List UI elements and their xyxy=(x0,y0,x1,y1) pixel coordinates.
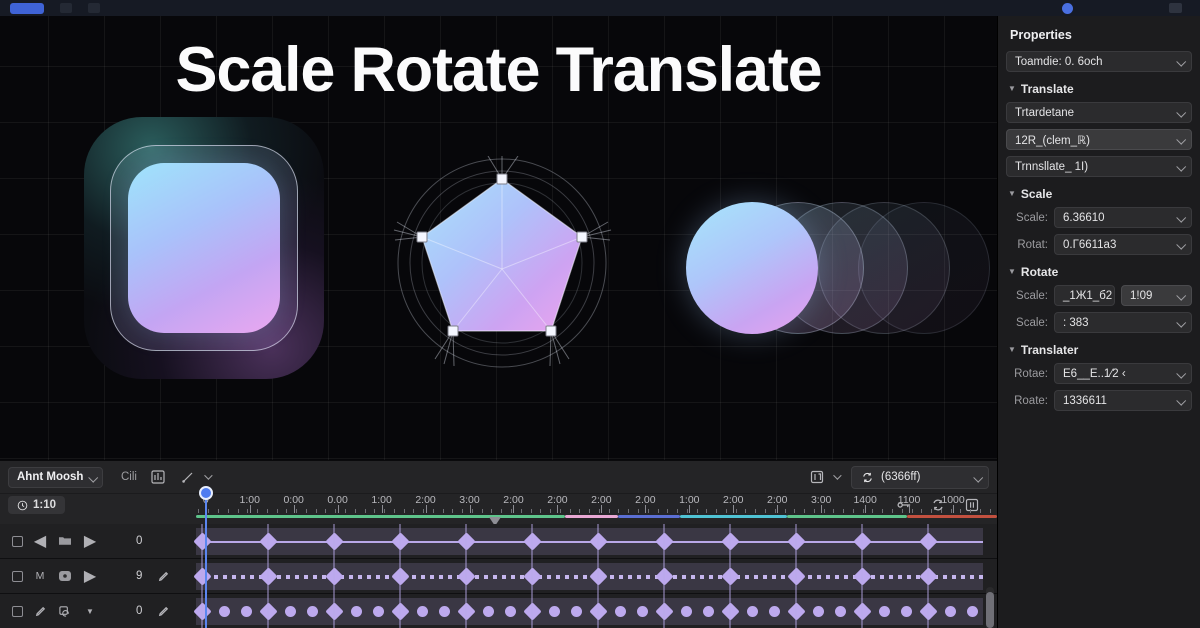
property-row: 12R_(clem_ℝ) xyxy=(1006,129,1192,150)
ruler-tick xyxy=(687,509,688,513)
keyframe-dot[interactable] xyxy=(417,606,428,617)
keyframe-connector xyxy=(663,524,665,628)
chevron-down-icon: ▼ xyxy=(1008,267,1016,276)
ruler-label: 1100 xyxy=(898,494,921,506)
keyframe-connector xyxy=(465,524,467,628)
ruler-label: 2:00 xyxy=(591,494,611,506)
keyframe-dot[interactable] xyxy=(439,606,450,617)
folder-icon[interactable] xyxy=(57,533,73,549)
rotate-icon[interactable] xyxy=(57,603,73,619)
property-group-header-rotate[interactable]: ▼ Rotate xyxy=(1008,265,1192,279)
property-row: Rotae: E6__E..1⁄2 ‹ xyxy=(1006,363,1192,384)
property-select[interactable]: 0.Г6611а3 xyxy=(1054,234,1192,255)
property-label: Rotae: xyxy=(1006,368,1048,380)
timecode-value: 1:10 xyxy=(33,499,56,511)
table-row[interactable]: M ▶ 9 xyxy=(0,559,997,594)
keyframe-dot[interactable] xyxy=(615,606,626,617)
timeline-panel: Ahnt Moosh Cili xyxy=(0,460,997,628)
ruler-label: 1400 xyxy=(853,494,876,506)
ruler-label: 0:00 xyxy=(283,494,303,506)
timeline-toolbar: Ahnt Moosh Cili xyxy=(0,461,997,494)
page-title: Scale Rotate Translate xyxy=(0,34,997,106)
shape-pentagon[interactable] xyxy=(392,156,612,378)
ruler-segment-1 xyxy=(565,515,619,518)
track-value: 0 xyxy=(136,535,142,547)
keyframe-dot[interactable] xyxy=(879,606,890,617)
toolbar-icon-3[interactable] xyxy=(1169,3,1182,13)
property-select[interactable]: 1336611 xyxy=(1054,390,1192,411)
clock-icon xyxy=(17,500,28,511)
properties-panel: Properties Toamdie: 0. 6och ▼ Translate … xyxy=(997,16,1200,628)
ruler-tick xyxy=(316,509,317,513)
ruler-tick xyxy=(452,509,453,513)
graph-icon[interactable] xyxy=(149,468,167,486)
ruler-tick xyxy=(667,509,668,513)
property-select-b[interactable]: 1!09 xyxy=(1121,285,1192,306)
keyframe-dot[interactable] xyxy=(241,606,252,617)
keyframe-dot[interactable] xyxy=(483,606,494,617)
timeline-marker[interactable] xyxy=(489,517,501,524)
shape-circle-trail[interactable] xyxy=(686,202,956,336)
property-row: Trnnsllate_ 1I) xyxy=(1006,156,1192,177)
ruler-tick xyxy=(726,509,727,513)
ruler-segment-4 xyxy=(787,515,907,518)
keyframe-connector xyxy=(201,524,203,628)
timeline-tracks: ◀ ▶ 0 M ▶ 9 xyxy=(0,524,997,628)
chevron-down-icon[interactable]: ▼ xyxy=(82,603,98,619)
ruler-tick xyxy=(286,509,287,513)
property-group-header-translater[interactable]: ▼ Translater xyxy=(1008,343,1192,357)
keyframe-dot[interactable] xyxy=(549,606,560,617)
snap-icon[interactable] xyxy=(808,468,826,486)
ruler-tick-major xyxy=(689,505,690,513)
keyframe-connector xyxy=(333,524,335,628)
ruler-tick xyxy=(990,509,991,513)
ruler-tick xyxy=(980,509,981,513)
ruler-segment-5 xyxy=(907,515,997,518)
top-toolbar xyxy=(0,0,1200,16)
ruler-label: 2:00 xyxy=(503,494,523,506)
ruler-tick xyxy=(618,509,619,513)
ruler-tick xyxy=(257,509,258,513)
property-label: Scale: xyxy=(1006,212,1048,224)
ruler-tick-major xyxy=(777,505,778,513)
property-row-top: Toamdie: 0. 6och xyxy=(1006,51,1192,72)
ruler-label: 3:00 xyxy=(811,494,831,506)
color-select-value: (6366ff) xyxy=(881,471,920,483)
color-select[interactable]: (6366ff) xyxy=(851,466,989,489)
track-checkbox[interactable] xyxy=(12,606,23,617)
ruler-tick xyxy=(785,509,786,513)
property-group-header-scale[interactable]: ▼ Scale xyxy=(1008,187,1192,201)
chevron-down-icon: ▼ xyxy=(1008,189,1016,198)
keyframe-connector xyxy=(927,524,929,628)
ruler-tick xyxy=(863,509,864,513)
track-checkbox[interactable] xyxy=(12,571,23,582)
timeline-ruler[interactable]: 01:000:000.001:002:003:002:002:002:002.0… xyxy=(196,494,997,524)
ruler-tick xyxy=(384,509,385,513)
ruler-label: 1:00 xyxy=(240,494,260,506)
ruler-tick xyxy=(296,509,297,513)
ruler-tick xyxy=(394,509,395,513)
property-row: Scale: 6.36610 xyxy=(1006,207,1192,228)
property-pair: _1Ж1_б2 + 1!09 xyxy=(1054,285,1192,306)
next-arrow-icon[interactable]: ▶ xyxy=(82,533,98,549)
property-row: Roate: 1336611 xyxy=(1006,390,1192,411)
property-group-header-translate[interactable]: ▼ Translate xyxy=(1008,82,1192,96)
ruler-tick xyxy=(658,509,659,513)
ruler-tick xyxy=(238,509,239,513)
ruler-tick xyxy=(443,509,444,513)
ruler-label: 3:00 xyxy=(459,494,479,506)
group-label: Rotate xyxy=(1021,265,1058,279)
keyframe-dot[interactable] xyxy=(219,606,230,617)
track-lane[interactable] xyxy=(196,594,983,628)
pen-icon[interactable] xyxy=(156,569,171,584)
track-lane[interactable] xyxy=(196,524,983,558)
ruler-tick xyxy=(560,509,561,513)
property-row: Trtardetane xyxy=(1006,102,1192,123)
ruler-tick xyxy=(491,509,492,513)
ruler-tick-major xyxy=(601,505,602,513)
keyframe-dot[interactable] xyxy=(307,606,318,617)
ruler-tick xyxy=(941,509,942,513)
track-value: 9 xyxy=(136,570,142,582)
playhead[interactable] xyxy=(205,494,207,628)
prev-arrow-icon[interactable]: ◀ xyxy=(32,533,48,549)
property-select[interactable]: : 383 xyxy=(1054,312,1192,333)
ruler-label: 0.00 xyxy=(327,494,347,506)
keyframe-dot[interactable] xyxy=(901,606,912,617)
keyframe-dot[interactable] xyxy=(769,606,780,617)
ruler-tick xyxy=(931,509,932,513)
swatch-icon xyxy=(861,471,874,484)
ruler-tick-major xyxy=(338,505,339,513)
table-row[interactable]: ▼ 0 xyxy=(0,594,997,628)
ruler-tick xyxy=(628,509,629,513)
rounded-square-fill xyxy=(128,163,280,333)
track-value: 0 xyxy=(136,605,142,617)
chevron-down-icon[interactable] xyxy=(204,471,212,479)
ruler-tick xyxy=(228,509,229,513)
ruler-tick xyxy=(872,509,873,513)
ruler-tick-major xyxy=(382,505,383,513)
ruler-label: 1:00 xyxy=(679,494,699,506)
ruler-tick xyxy=(775,509,776,513)
chevron-down-icon[interactable] xyxy=(833,471,841,479)
ruler-tick xyxy=(843,509,844,513)
keyframe-dot[interactable] xyxy=(703,606,714,617)
pen-icon[interactable] xyxy=(32,603,48,619)
group-label: Scale xyxy=(1021,187,1052,201)
property-row: Rotat: 0.Г6611а3 xyxy=(1006,234,1192,255)
ruler-tick-major xyxy=(470,505,471,513)
ruler-tick xyxy=(345,509,346,513)
ruler-tick xyxy=(267,509,268,513)
ruler-tick xyxy=(638,509,639,513)
ruler-tick-major xyxy=(557,505,558,513)
ruler-tick xyxy=(609,509,610,513)
keyframe-dot[interactable] xyxy=(505,606,516,617)
ruler-label: 1:00 xyxy=(371,494,391,506)
ruler-tick-major xyxy=(426,505,427,513)
keyframe-connector xyxy=(861,524,863,628)
ruler-tick xyxy=(540,509,541,513)
property-row: Scale: : 383 xyxy=(1006,312,1192,333)
property-row: Scale: _1Ж1_б2 + 1!09 xyxy=(1006,285,1192,306)
ruler-tick xyxy=(824,509,825,513)
group-label: Translate xyxy=(1021,82,1074,96)
keyframe-connector xyxy=(531,524,533,628)
ruler-tick xyxy=(814,509,815,513)
canvas-stage[interactable]: Scale Rotate Translate xyxy=(0,16,997,460)
ruler-tick xyxy=(579,509,580,513)
ruler-tick-major xyxy=(294,505,295,513)
ruler-tick xyxy=(804,509,805,513)
ruler-tick xyxy=(853,509,854,513)
pen-icon[interactable] xyxy=(156,604,171,619)
tool-label: Cili xyxy=(121,471,137,483)
ruler-tick xyxy=(325,509,326,513)
ruler-tick xyxy=(960,509,961,513)
ruler-segment-2 xyxy=(618,515,679,518)
ruler-tick xyxy=(706,509,707,513)
ruler-tick-major xyxy=(733,505,734,513)
ruler-tick xyxy=(970,509,971,513)
ruler-tick xyxy=(374,509,375,513)
keyframe-dot[interactable] xyxy=(571,606,582,617)
ruler-tick xyxy=(794,509,795,513)
ruler-tick xyxy=(745,509,746,513)
ruler-tick xyxy=(716,509,717,513)
keyframe-dot[interactable] xyxy=(967,606,978,617)
ruler-tick xyxy=(697,509,698,513)
playhead-knob[interactable] xyxy=(199,486,213,500)
property-select[interactable]: Trnnsllate_ 1I) xyxy=(1006,156,1192,177)
toolbar-icon-2[interactable] xyxy=(88,3,100,13)
properties-heading: Properties xyxy=(1010,28,1190,42)
keyframe-connector xyxy=(597,524,599,628)
ruler-tick xyxy=(433,509,434,513)
ruler-tick-major xyxy=(909,505,910,513)
ruler-tick-major xyxy=(865,505,866,513)
shape-rounded-square[interactable] xyxy=(84,117,324,379)
ruler-tick xyxy=(765,509,766,513)
property-label: Scale: xyxy=(1006,290,1048,302)
mode-select[interactable]: Ahnt Moosh xyxy=(8,467,103,488)
toolbar-active-icon[interactable] xyxy=(1062,3,1073,14)
ruler-tick xyxy=(482,509,483,513)
keyframe-dot[interactable] xyxy=(637,606,648,617)
ruler-tick xyxy=(521,509,522,513)
property-label: Scale: xyxy=(1006,317,1048,329)
app-window: Scale Rotate Translate xyxy=(0,0,1200,628)
timecode-field[interactable]: 1:10 xyxy=(8,496,65,514)
ruler-tick xyxy=(198,509,199,513)
group-label: Translater xyxy=(1021,343,1078,357)
ruler-tick xyxy=(462,509,463,513)
vertical-scrollbar[interactable] xyxy=(986,592,994,628)
pen-tool-icon[interactable] xyxy=(179,468,197,486)
ruler-tick xyxy=(277,509,278,513)
circle-primary xyxy=(686,202,818,334)
ruler-tick xyxy=(511,509,512,513)
ruler-tick xyxy=(599,509,600,513)
ruler-tick xyxy=(882,509,883,513)
property-select[interactable]: E6__E..1⁄2 ‹ xyxy=(1054,363,1192,384)
ruler-tick xyxy=(736,509,737,513)
ruler-tick xyxy=(355,509,356,513)
ruler-tick xyxy=(677,509,678,513)
ruler-tick xyxy=(413,509,414,513)
next-arrow-icon[interactable]: ▶ xyxy=(82,568,98,584)
keyframe-dot[interactable] xyxy=(747,606,758,617)
ruler-tick xyxy=(404,509,405,513)
ruler-label: 2.00 xyxy=(635,494,655,506)
ruler-tick xyxy=(892,509,893,513)
property-label: Roate: xyxy=(1006,395,1048,407)
property-select[interactable]: 12R_(clem_ℝ) xyxy=(1006,129,1192,150)
ruler-tick xyxy=(648,509,649,513)
toolbar-icon-1[interactable] xyxy=(60,3,72,13)
ruler-label: 2:00 xyxy=(547,494,567,506)
ruler-tick xyxy=(550,509,551,513)
ruler-tick xyxy=(570,509,571,513)
ruler-tick xyxy=(501,509,502,513)
keyframe-dot[interactable] xyxy=(813,606,824,617)
ruler-tick-major xyxy=(953,505,954,513)
keyframe-dot[interactable] xyxy=(373,606,384,617)
ruler-label: 2:00 xyxy=(723,494,743,506)
timeline-toolbar-right: (6366ff) xyxy=(796,466,989,489)
ruler-tick xyxy=(365,509,366,513)
ruler-label: 2:00 xyxy=(767,494,787,506)
keyframe-connector xyxy=(399,524,401,628)
ruler-label: 2:00 xyxy=(415,494,435,506)
track-lane[interactable] xyxy=(196,559,983,593)
pentagon-svg xyxy=(392,156,612,378)
ruler-tick xyxy=(335,509,336,513)
property-label: Rotat: xyxy=(1006,239,1048,251)
ruler-tick xyxy=(423,509,424,513)
ruler-tick-major xyxy=(513,505,514,513)
keyframe-dot[interactable] xyxy=(681,606,692,617)
keyframe-connector xyxy=(267,524,269,628)
ruler-tick xyxy=(247,509,248,513)
table-row[interactable]: ◀ ▶ 0 xyxy=(0,524,997,559)
ruler-tick xyxy=(306,509,307,513)
ruler-tick xyxy=(472,509,473,513)
ruler-tick-major xyxy=(645,505,646,513)
keyframe-connector xyxy=(729,524,731,628)
ruler-tick-major xyxy=(250,505,251,513)
ruler-tick xyxy=(218,509,219,513)
ruler-segment-3 xyxy=(680,515,787,518)
ruler-tick xyxy=(589,509,590,513)
keyframe-dot[interactable] xyxy=(945,606,956,617)
ruler-tick xyxy=(833,509,834,513)
property-select[interactable]: 6.36610 xyxy=(1054,207,1192,228)
property-select-top[interactable]: Toamdie: 0. 6och xyxy=(1006,51,1192,72)
chevron-down-icon: ▼ xyxy=(1008,84,1016,93)
track-checkbox[interactable] xyxy=(12,536,23,547)
ruler-tick xyxy=(921,509,922,513)
ruler-tick xyxy=(902,509,903,513)
ruler-tick xyxy=(531,509,532,513)
ruler-tick xyxy=(755,509,756,513)
mask-letter-icon: M xyxy=(32,568,48,584)
chevron-down-icon: ▼ xyxy=(1008,345,1016,354)
property-input-a[interactable]: _1Ж1_б2 + xyxy=(1054,285,1115,306)
keyframe-dot[interactable] xyxy=(835,606,846,617)
keyframe-connector xyxy=(795,524,797,628)
property-select[interactable]: Trtardetane xyxy=(1006,102,1192,123)
ruler-tick xyxy=(951,509,952,513)
keyframe-dot[interactable] xyxy=(285,606,296,617)
ruler-tick-major xyxy=(821,505,822,513)
ruler-label: 1000 xyxy=(941,494,964,506)
ruler-tick xyxy=(912,509,913,513)
ruler-tick xyxy=(208,509,209,513)
record-icon[interactable] xyxy=(57,568,73,584)
ruler-segment-0 xyxy=(196,515,565,518)
keyframe-dot[interactable] xyxy=(351,606,362,617)
app-logo-icon xyxy=(10,3,44,14)
